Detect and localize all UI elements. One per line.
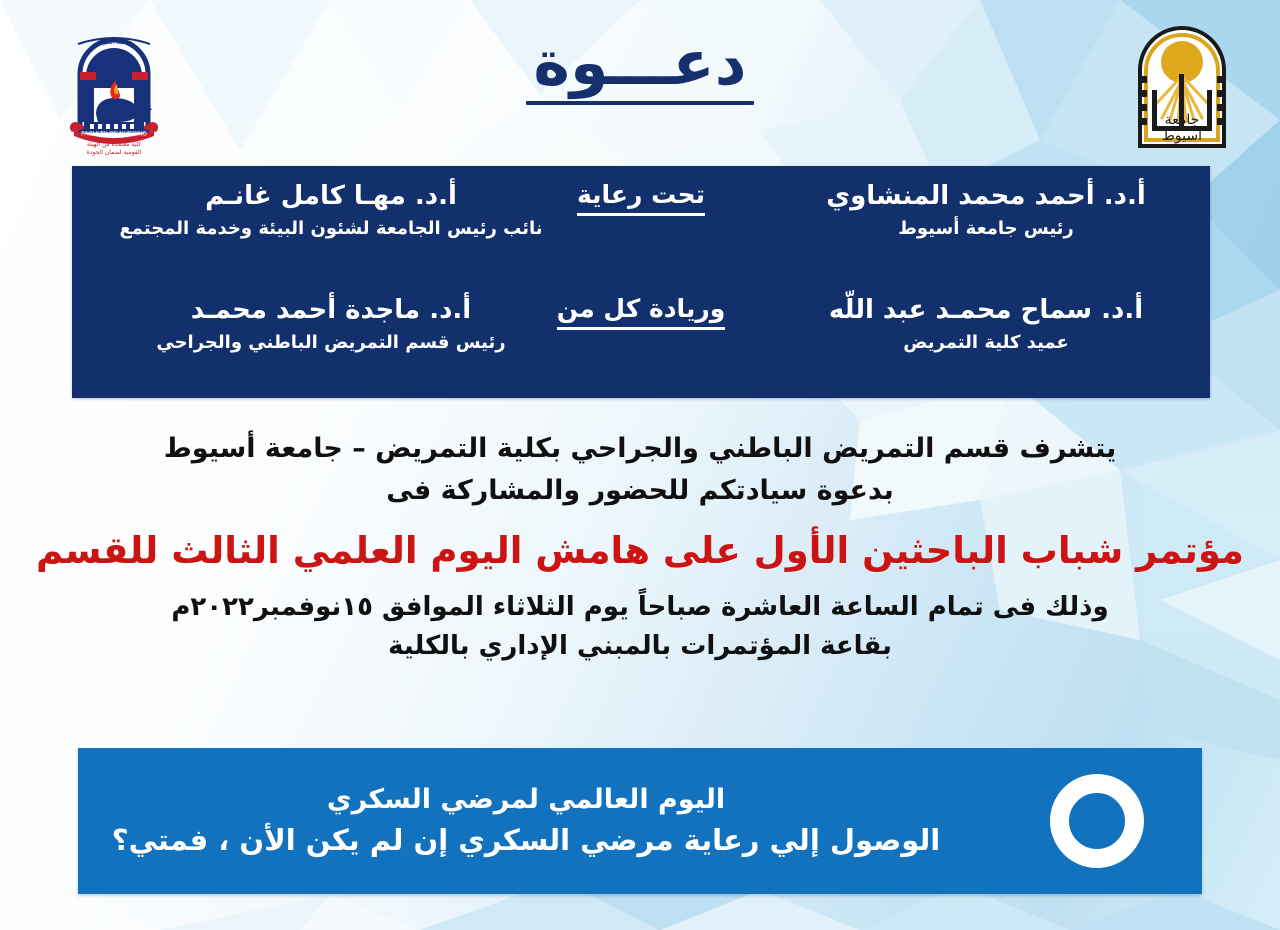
sponsor-panel: أ.د. أحمد محمد المنشاوي رئيس جامعة أسيوط… (72, 166, 1210, 398)
sponsor-name: أ.د. سماح محمـد عبد اللّه (776, 294, 1196, 327)
svg-text:القومية لضمان الجودة: القومية لضمان الجودة (87, 149, 142, 156)
sponsor-name: أ.د. ماجدة أحمد محمـد (86, 294, 576, 327)
banner-text: اليوم العالمي لمرضي السكري الوصول إلي رع… (78, 780, 992, 863)
invitation-poster: FACULTY OF NURSING جامعة أسيوط كلية معتم… (0, 0, 1280, 930)
sponsor-person-faculty-dean: أ.د. سماح محمـد عبد اللّه عميد كلية التم… (776, 294, 1196, 354)
assiut-university-logo: جامعة أسيوط (1126, 14, 1238, 158)
title-underline (526, 101, 754, 105)
conference-headline: مؤتمر شباب الباحثين الأول على هامش اليوم… (0, 528, 1280, 574)
leadership-label: وريادة كل من (557, 294, 726, 330)
page-title: دعـــوة (0, 30, 1280, 95)
faculty-of-nursing-logo: FACULTY OF NURSING جامعة أسيوط كلية معتم… (62, 22, 166, 158)
svg-text:جامعة أسيوط: جامعة أسيوط (97, 38, 131, 46)
world-diabetes-day-banner: اليوم العالمي لمرضي السكري الوصول إلي رع… (78, 748, 1202, 894)
sponsor-name: أ.د. أحمد محمد المنشاوي (776, 180, 1196, 213)
patronage-label: تحت رعاية (577, 180, 705, 216)
sponsor-person-department-head: أ.د. ماجدة أحمد محمـد رئيس قسم التمريض ا… (86, 294, 576, 354)
invite-line-2: بدعوة سيادتكم للحضور والمشاركة فى (0, 470, 1280, 512)
svg-text:كلية معتمدة من الهيئة: كلية معتمدة من الهيئة (87, 141, 141, 148)
sponsor-person-university-president: أ.د. أحمد محمد المنشاوي رئيس جامعة أسيوط (776, 180, 1196, 240)
sponsor-title: رئيس جامعة أسيوط (776, 217, 1196, 240)
banner-slogan: الوصول إلي رعاية مرضي السكري إن لم يكن ا… (78, 819, 974, 863)
sponsor-name: أ.د. مهـا كامل غانـم (86, 180, 576, 213)
banner-title: اليوم العالمي لمرضي السكري (78, 780, 974, 819)
poster-title-block: دعـــوة (0, 30, 1280, 105)
sponsor-person-vice-president: أ.د. مهـا كامل غانـم نائب رئيس الجامعة ل… (86, 180, 576, 240)
invite-line-1: يتشرف قسم التمريض الباطني والجراحي بكلية… (0, 428, 1280, 470)
diabetes-blue-circle-icon (1050, 774, 1144, 868)
event-datetime: وذلك فى تمام الساعة العاشرة صباحاً يوم ا… (0, 588, 1280, 627)
sponsor-title: نائب رئيس الجامعة لشئون البيئة وخدمة الم… (86, 217, 576, 240)
svg-text:أسيوط: أسيوط (1162, 126, 1202, 144)
svg-text:جامعة: جامعة (1165, 112, 1200, 128)
sponsor-title: رئيس قسم التمريض الباطني والجراحي (86, 331, 576, 354)
sponsor-title: عميد كلية التمريض (776, 331, 1196, 354)
banner-symbol (992, 774, 1202, 868)
event-venue: بقاعة المؤتمرات بالمبني الإداري بالكلية (0, 627, 1280, 666)
svg-text:FACULTY OF NURSING: FACULTY OF NURSING (81, 132, 147, 138)
body-copy: يتشرف قسم التمريض الباطني والجراحي بكلية… (0, 428, 1280, 666)
